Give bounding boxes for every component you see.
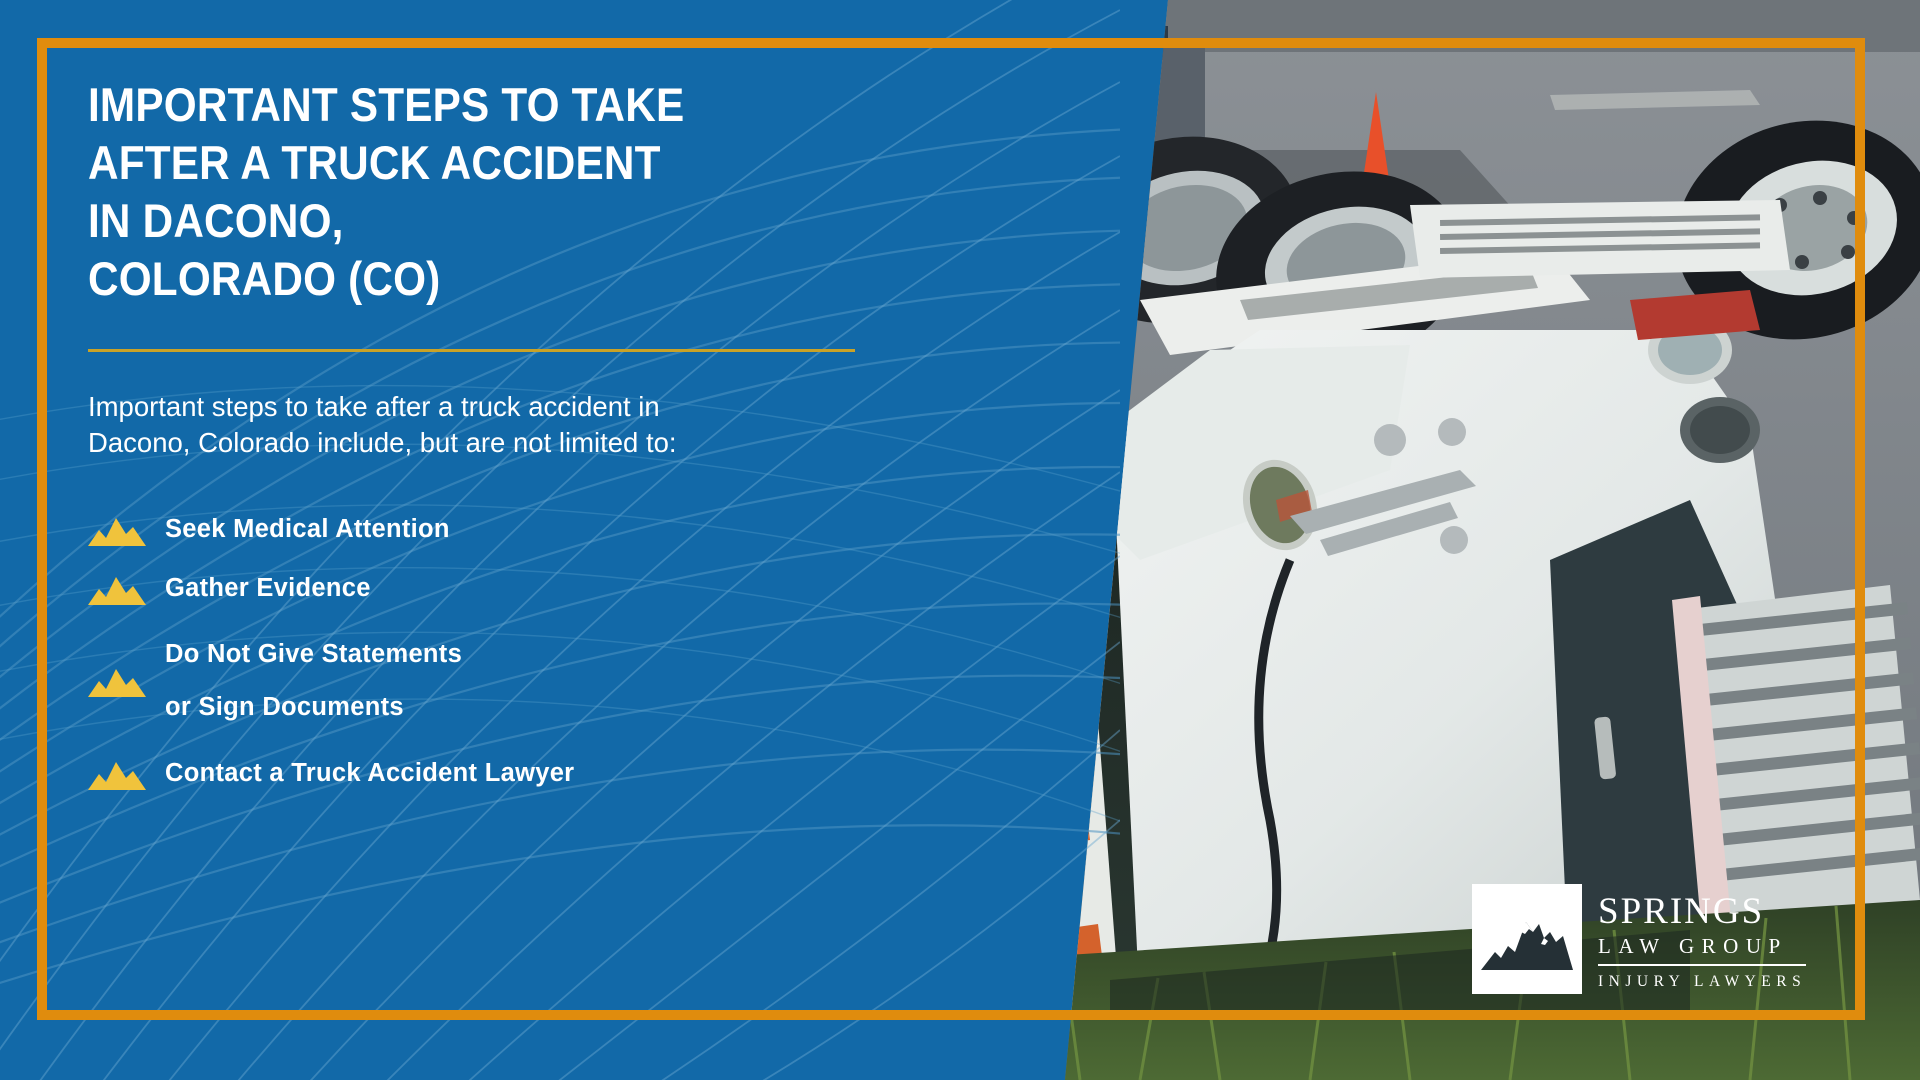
mountain-icon [88,664,154,698]
page-title: IMPORTANT STEPS TO TAKE AFTER A TRUCK AC… [88,76,889,308]
list-item-label: Do Not Give Statements or Sign Documents [165,628,462,735]
mountain-icon [88,757,154,791]
intro-paragraph: Important steps to take after a truck ac… [88,389,818,462]
gold-divider [88,349,855,352]
content-column: IMPORTANT STEPS TO TAKE AFTER A TRUCK AC… [88,76,888,813]
banner-canvas: IMPORTANT STEPS TO TAKE AFTER A TRUCK AC… [0,0,1920,1080]
logo-name: SPRINGS [1598,893,1806,930]
steps-list: Seek Medical Attention Gather Evidence D… [88,510,888,794]
list-item: Contact a Truck Accident Lawyer [88,754,888,794]
mountain-range-icon [1472,884,1582,994]
list-item-label: Gather Evidence [165,576,371,602]
mountain-icon [88,513,154,547]
list-item-label: Contact a Truck Accident Lawyer [165,761,574,787]
list-item: Do Not Give Statements or Sign Documents [88,628,888,735]
logo-practice: LAW GROUP [1598,936,1806,957]
springs-law-group-logo: SPRINGS LAW GROUP INJURY LAWYERS [1472,884,1806,994]
list-item: Gather Evidence [88,569,888,609]
list-item-label: Seek Medical Attention [165,517,450,543]
list-item: Seek Medical Attention [88,510,888,550]
logo-tagline: INJURY LAWYERS [1598,974,1806,990]
mountain-icon [88,572,154,606]
logo-wordmark: SPRINGS LAW GROUP INJURY LAWYERS [1598,884,1806,990]
logo-rule [1598,964,1806,966]
